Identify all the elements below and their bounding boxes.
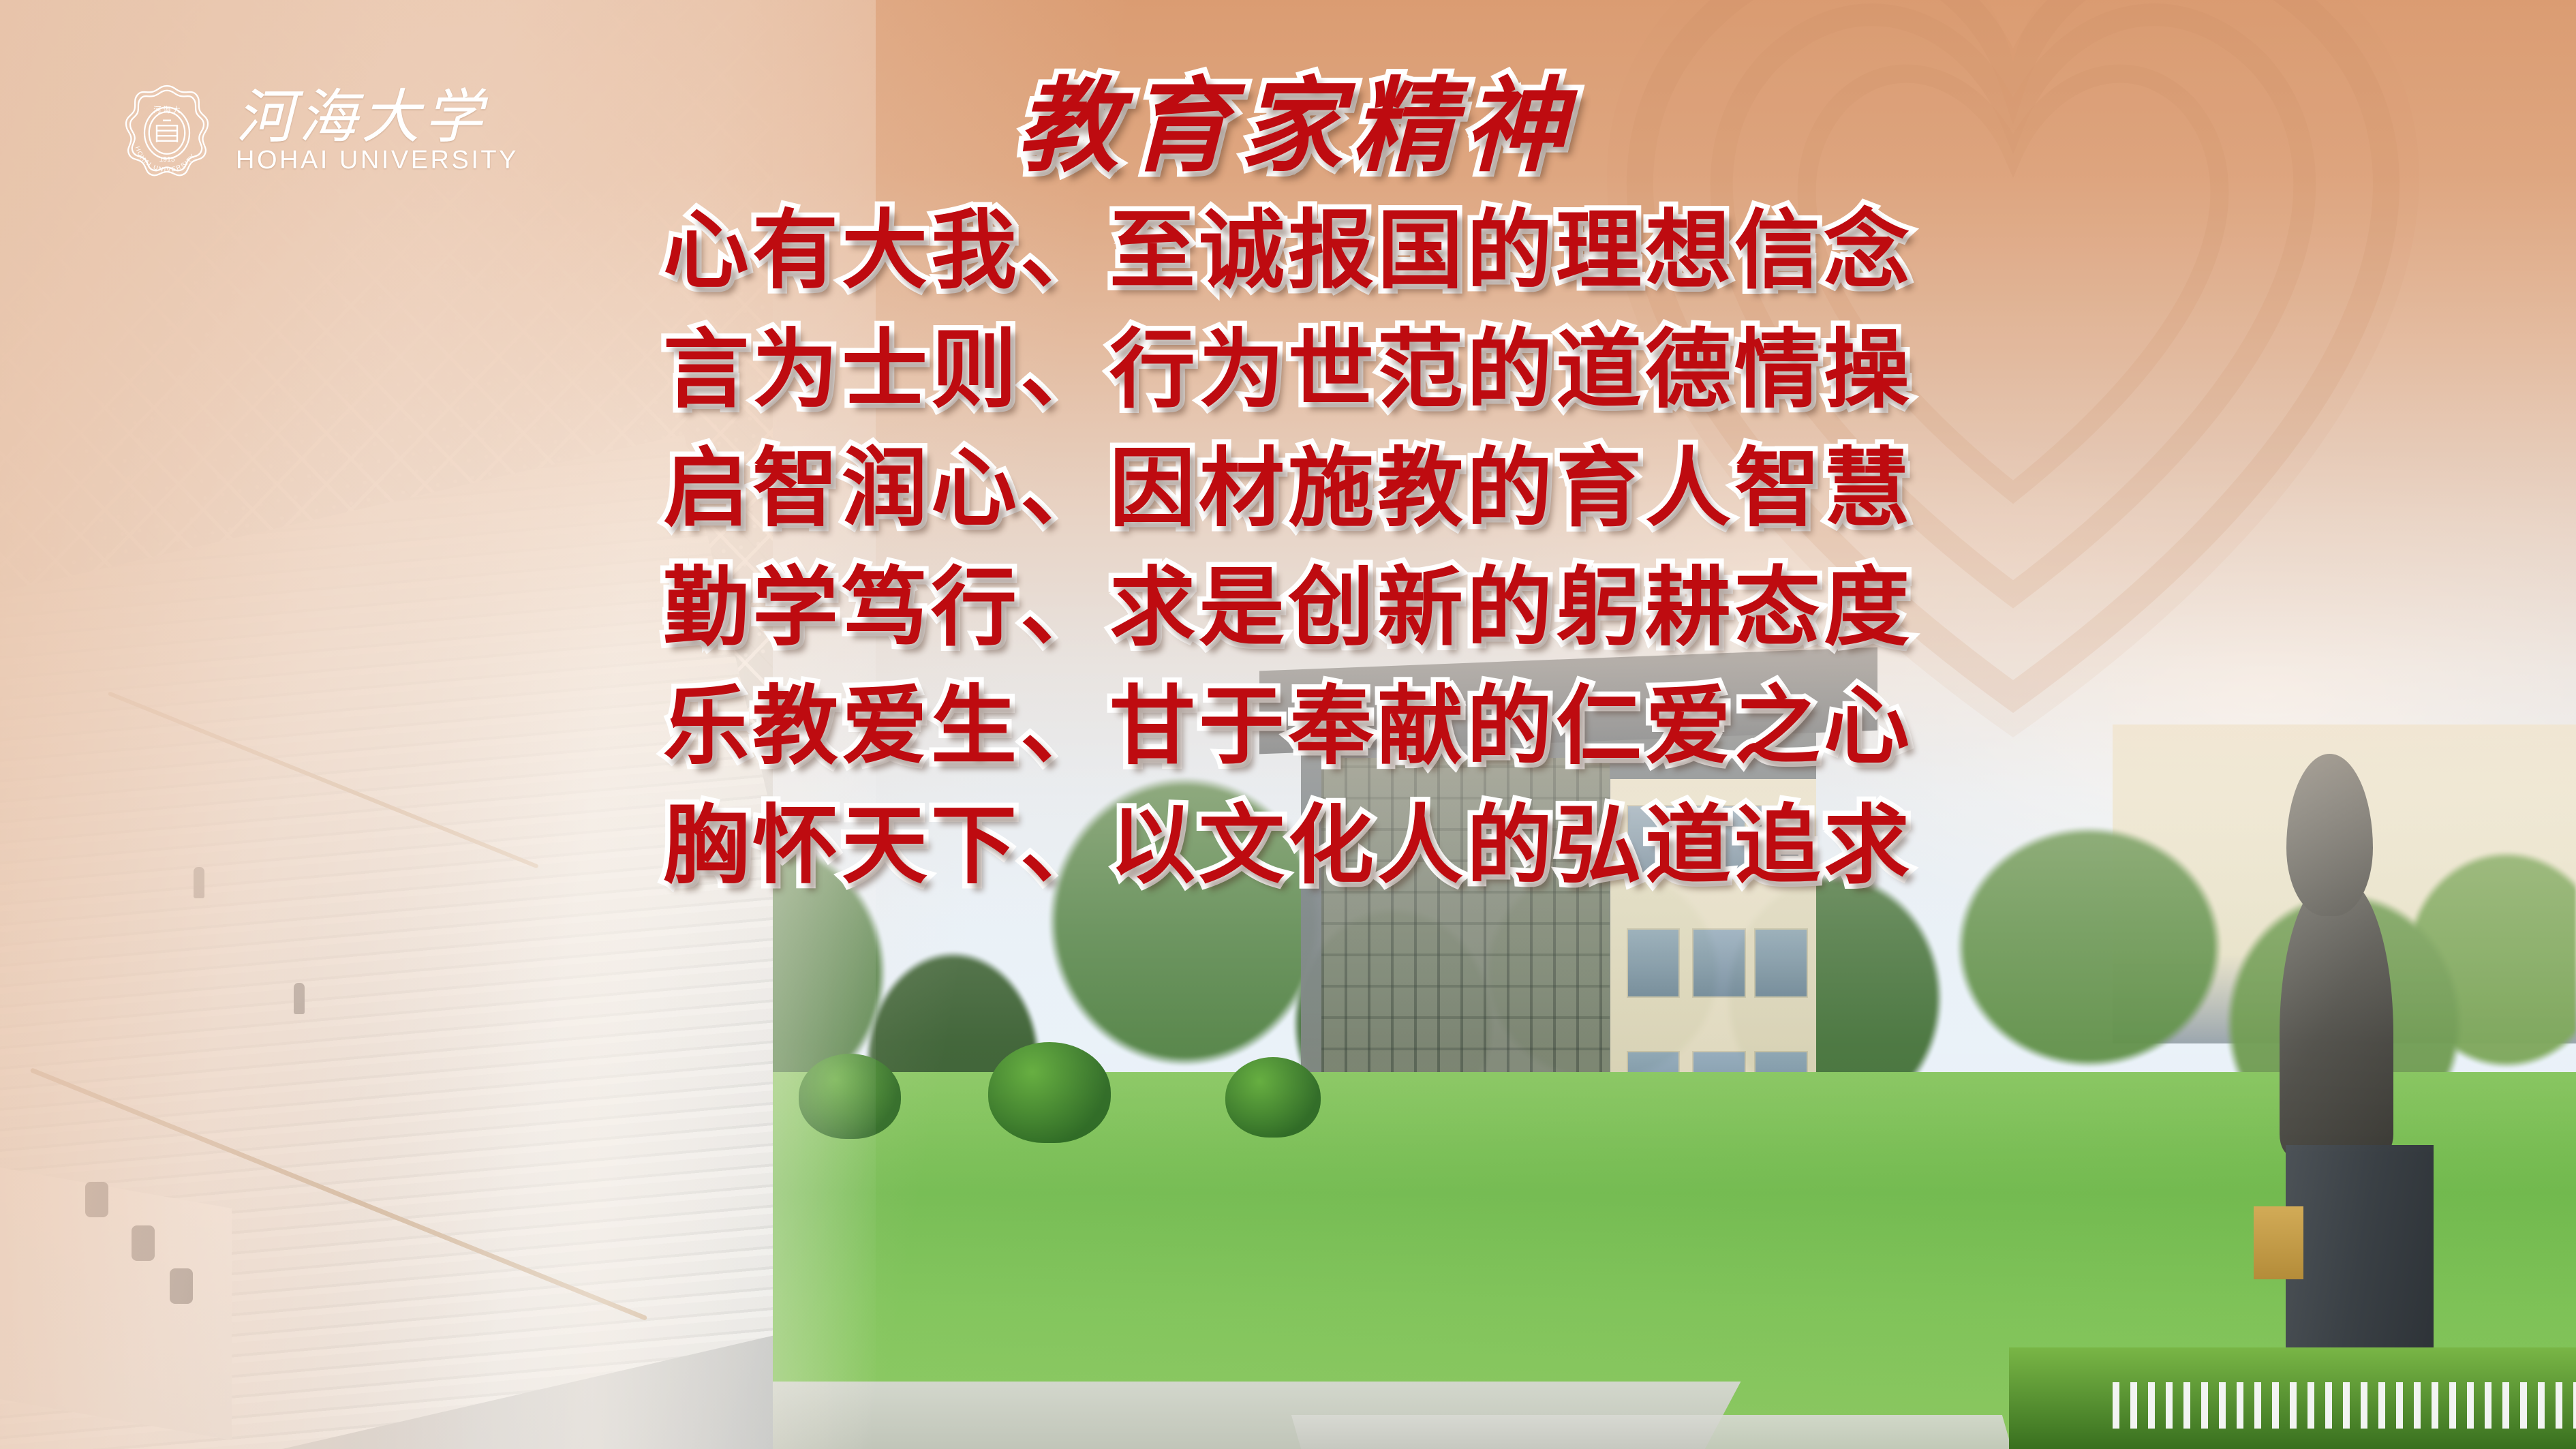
slogan-block: 教育家精神 心有大我、至诚报国的理想信念 言为士则、行为世范的道德情操 启智润心… — [0, 75, 2576, 905]
slogan-line-1: 心有大我、至诚报国的理想信念 — [663, 192, 1913, 311]
slogan-line-3: 启智润心、因材施教的育人智慧 — [663, 429, 1913, 549]
poster-title: 教育家精神 — [1017, 75, 1576, 179]
slogan-line-4: 勤学笃行、求是创新的躬耕态度 — [663, 549, 1913, 668]
slogan-line-5: 乐教爱生、甘于奉献的仁爱之心 — [663, 667, 1913, 787]
poster-canvas: 1915 河 海 大 HOHAI UNIVERSITY 河海大学 HOHAI U… — [0, 0, 2576, 1449]
slogan-line-2: 言为士则、行为世范的道德情操 — [663, 311, 1913, 430]
slogan-line-6: 胸怀天下、以文化人的弘道追求 — [663, 787, 1913, 906]
